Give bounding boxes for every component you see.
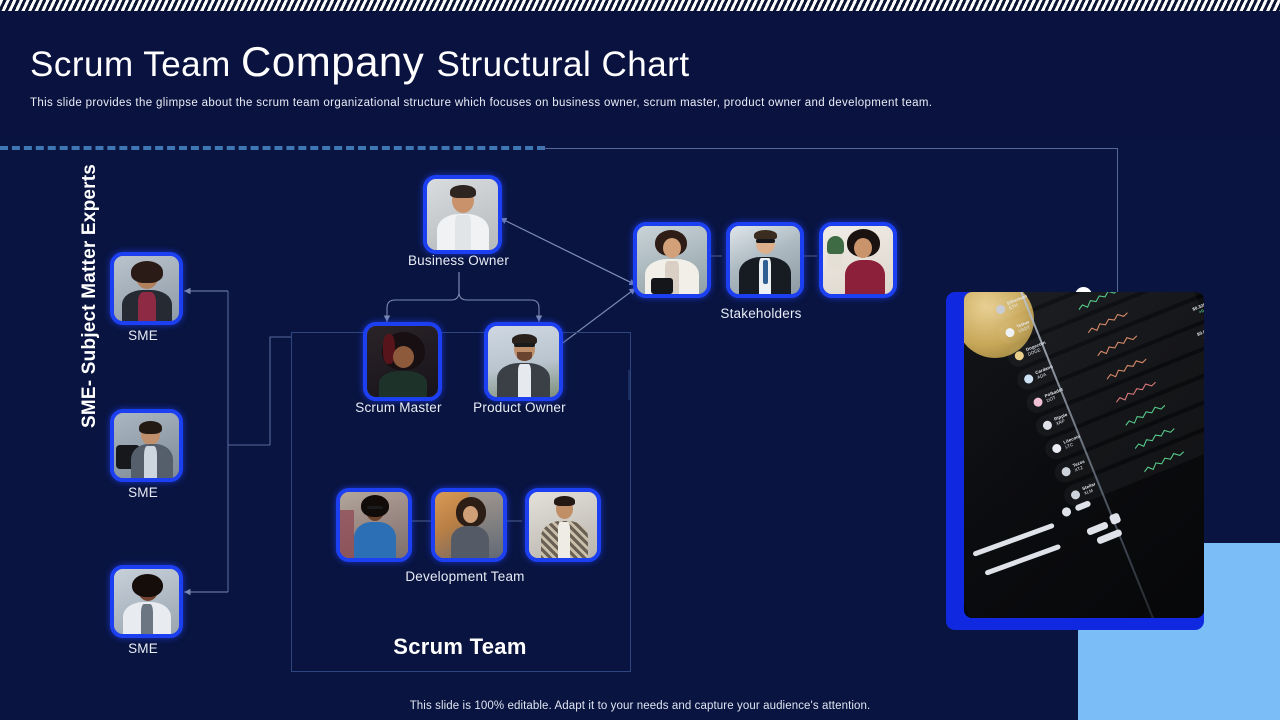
- product-owner-node[interactable]: Product Owner: [484, 322, 563, 401]
- sme-avatar-2[interactable]: [110, 409, 183, 482]
- business-owner-avatar[interactable]: [423, 175, 502, 254]
- development-team-label: Development Team: [385, 569, 545, 584]
- stakeholder-avatar-2[interactable]: [726, 222, 804, 298]
- sme-node-3[interactable]: SME: [110, 565, 183, 638]
- sme-label-1: SME: [107, 328, 179, 343]
- stakeholder-node-2[interactable]: [726, 222, 804, 298]
- business-owner-node[interactable]: Business Owner: [423, 175, 502, 254]
- scrum-master-avatar[interactable]: [363, 322, 442, 401]
- sme-section-heading: SME- Subject Matter Experts: [79, 146, 101, 446]
- development-team-node-1[interactable]: [336, 488, 412, 562]
- sme-node-2[interactable]: SME: [110, 409, 183, 482]
- stakeholder-avatar-3[interactable]: [819, 222, 897, 298]
- stakeholders-label: Stakeholders: [688, 306, 834, 321]
- development-team-node-3[interactable]: [525, 488, 601, 562]
- development-team-avatar-2[interactable]: [431, 488, 507, 562]
- product-owner-avatar[interactable]: [484, 322, 563, 401]
- stakeholder-node-1[interactable]: [633, 222, 711, 298]
- stakeholder-node-3[interactable]: [819, 222, 897, 298]
- org-chart-connectors: [0, 0, 1280, 720]
- scrum-team-group-title: Scrum Team: [291, 634, 629, 660]
- sme-label-3: SME: [107, 641, 179, 656]
- sme-avatar-1[interactable]: [110, 252, 183, 325]
- development-team-node-2[interactable]: [431, 488, 507, 562]
- sme-node-1[interactable]: SME: [110, 252, 183, 325]
- footer-note: This slide is 100% editable. Adapt it to…: [0, 700, 1280, 712]
- development-team-avatar-1[interactable]: [336, 488, 412, 562]
- scrum-master-node[interactable]: Scrum Master: [363, 322, 442, 401]
- sme-label-2: SME: [107, 485, 179, 500]
- development-team-avatar-3[interactable]: [525, 488, 601, 562]
- stakeholder-avatar-1[interactable]: [633, 222, 711, 298]
- scrum-master-label: Scrum Master: [352, 400, 445, 415]
- sme-avatar-3[interactable]: [110, 565, 183, 638]
- business-owner-label: Business Owner: [398, 253, 519, 268]
- product-owner-label: Product Owner: [473, 400, 566, 415]
